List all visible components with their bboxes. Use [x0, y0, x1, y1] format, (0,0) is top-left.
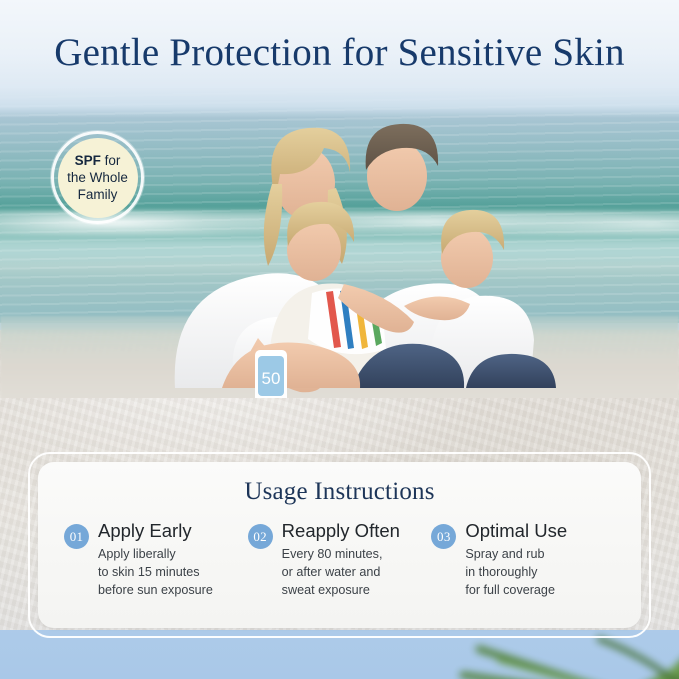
step-number-badge: 01	[64, 524, 89, 549]
step-body: Reapply Often Every 80 minutes, or after…	[282, 521, 424, 600]
usage-step: 02 Reapply Often Every 80 minutes, or af…	[248, 521, 432, 600]
usage-instructions-panel: Usage Instructions 01 Apply Early Apply …	[38, 462, 641, 628]
spf-badge: SPF for the Whole Family	[51, 131, 144, 224]
usage-steps: 01 Apply Early Apply liberally to skin 1…	[38, 521, 641, 600]
sunscreen-bottle-spf-50: 50	[255, 350, 287, 398]
page-title: Gentle Protection for Sensitive Skin	[0, 33, 679, 74]
svg-text:50: 50	[262, 369, 281, 388]
step-description: Spray and rub in thoroughly for full cov…	[465, 546, 607, 600]
step-body: Apply Early Apply liberally to skin 15 m…	[98, 521, 240, 600]
spf-badge-inner: SPF for the Whole Family	[58, 138, 138, 218]
step-description: Every 80 minutes, or after water and swe…	[282, 546, 424, 600]
step-body: Optimal Use Spray and rub in thoroughly …	[465, 521, 607, 600]
step-title: Optimal Use	[465, 521, 607, 541]
step-title: Apply Early	[98, 521, 240, 541]
panel-title: Usage Instructions	[38, 478, 641, 506]
step-description: Apply liberally to skin 15 minutes befor…	[98, 546, 240, 600]
step-number-badge: 02	[248, 524, 273, 549]
usage-step: 03 Optimal Use Spray and rub in thorough…	[431, 521, 615, 600]
step-title: Reapply Often	[282, 521, 424, 541]
step-number-badge: 03	[431, 524, 456, 549]
spf-badge-label: SPF for the Whole Family	[63, 152, 132, 204]
usage-step: 01 Apply Early Apply liberally to skin 1…	[64, 521, 248, 600]
poster-root: 50 Gentle Protection for Sensitive Skin …	[0, 0, 679, 679]
